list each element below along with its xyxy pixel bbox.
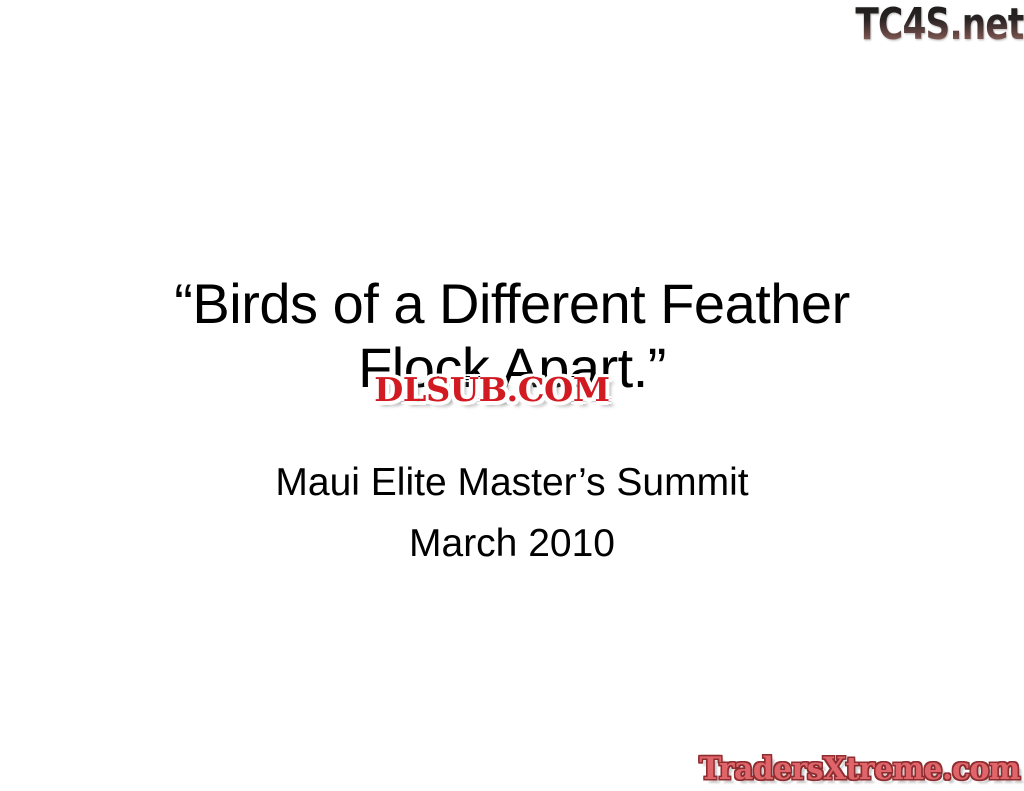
dlsub-watermark: DLSUB.COM [368, 371, 616, 410]
subtitle-line-event: Maui Elite Master’s Summit [0, 452, 1024, 513]
tc4s-watermark: TC4S.net [856, 2, 1024, 48]
title-line-1: “Birds of a Different Feather [0, 272, 1024, 336]
subtitle-line-date: March 2010 [0, 513, 1024, 574]
tradersxtreme-watermark: TradersXtreme.com [699, 751, 1020, 787]
slide-subtitle: Maui Elite Master’s Summit March 2010 [0, 452, 1024, 574]
presentation-slide: TC4S.net “Birds of a Different Feather F… [0, 0, 1024, 791]
